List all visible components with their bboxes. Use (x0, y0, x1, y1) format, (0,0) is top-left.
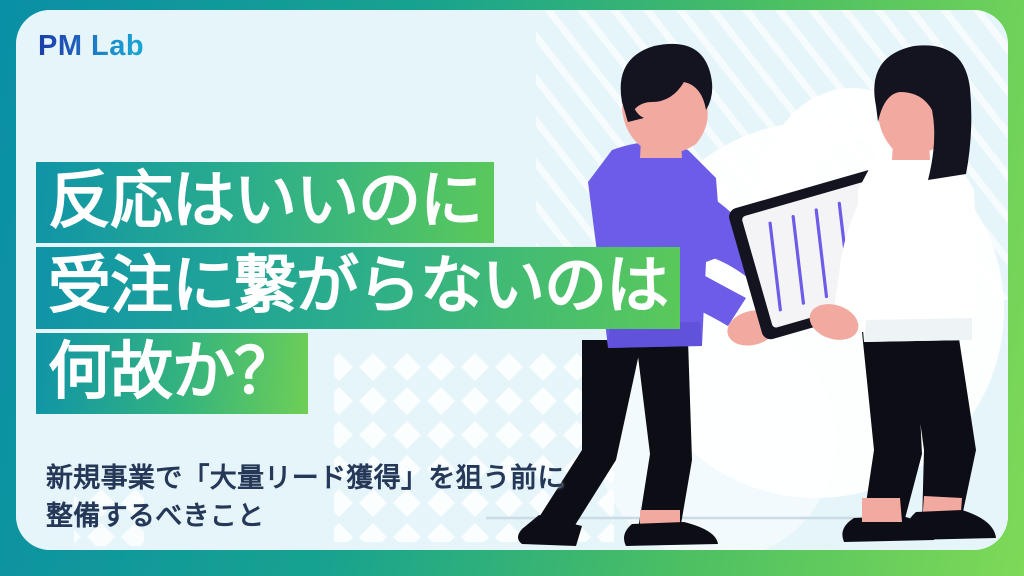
thumbnail-canvas: PM Lab 反応はいいのに 受注に繋がらないのは 何故か？ 新規事業で「大量リ… (0, 0, 1024, 576)
headline-block: 反応はいいのに 受注に繋がらないのは 何故か？ (36, 162, 680, 414)
headline-line-1: 反応はいいのに (36, 162, 494, 243)
subtitle-block: 新規事業で「大量リード獲得」を狙う前に 整備するべきこと (46, 460, 565, 537)
headline-line-3: 何故か？ (36, 333, 308, 414)
content-panel: PM Lab 反応はいいのに 受注に繋がらないのは 何故か？ 新規事業で「大量リ… (16, 10, 1008, 550)
brand-logo[interactable]: PM Lab (38, 30, 144, 63)
subtitle-line-1: 新規事業で「大量リード獲得」を狙う前に (46, 460, 565, 498)
subtitle-line-2: 整備するべきこと (46, 498, 565, 536)
headline-line-2: 受注に繋がらないのは (36, 247, 680, 328)
